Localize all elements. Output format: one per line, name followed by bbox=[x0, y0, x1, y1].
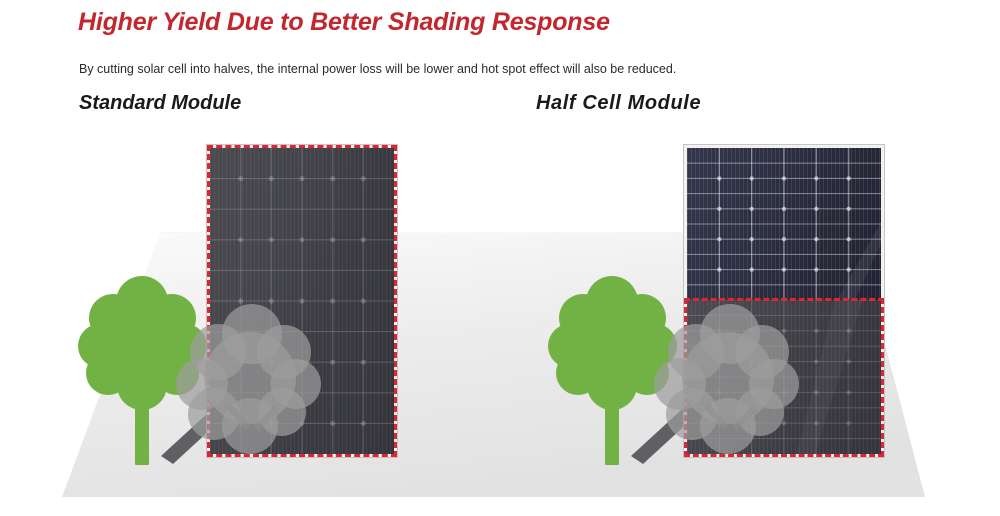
tree-shadow-standard bbox=[170, 300, 340, 465]
panel-surface-half-cell-top bbox=[687, 148, 881, 300]
slide-canvas: Higher Yield Due to Better Shading Respo… bbox=[0, 0, 1000, 516]
tree-shadow-half-cell bbox=[648, 300, 818, 465]
cell-grid-half-cell-top bbox=[687, 148, 881, 300]
scene-standard-module bbox=[0, 0, 480, 516]
scene-half-cell-module bbox=[500, 0, 1000, 516]
